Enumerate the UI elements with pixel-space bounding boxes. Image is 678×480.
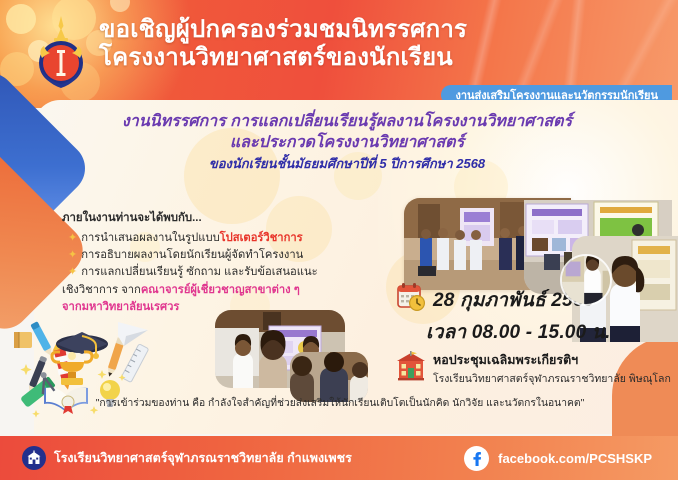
venue-line-1: หอประชุมเฉลิมพระเกียรติฯ xyxy=(433,350,671,370)
details-lead: ภายในงานท่านจะได้พบกับ... xyxy=(62,210,380,228)
continuation-prefix: เชิงวิชาการ จาก xyxy=(62,284,141,296)
list-item: ✦ การแลกเปลี่ยนเรียนรู้ ซักถาม และรับข้อ… xyxy=(62,264,380,281)
list-item: ✦ การอธิบายผลงานโดยนักเรียนผู้จัดทำโครงง… xyxy=(62,247,380,264)
venue-block: หอประชุมเฉลิมพระเกียรติฯ โรงเรียนวิทยาศา… xyxy=(433,350,671,387)
school-building-icon xyxy=(396,351,426,386)
facebook-icon[interactable] xyxy=(464,446,489,471)
date-row: 28 กุมภาพันธ์ 2569 xyxy=(396,282,678,317)
title-line-2: โครงงานวิทยาศาสตร์ของนักเรียน xyxy=(99,44,599,72)
school-name: โรงเรียนวิทยาศาสตร์จุฬาภรณราชวิทยาลัย กำ… xyxy=(54,448,352,468)
calendar-clock-icon xyxy=(396,282,426,317)
venue-line-2: โรงเรียนวิทยาศาสตร์จุฬาภรณราชวิทยาลัย พิ… xyxy=(433,370,671,387)
venue-row: หอประชุมเฉลิมพระเกียรติฯ โรงเรียนวิทยาศา… xyxy=(396,350,678,387)
closing-quote: "การเข้าร่วมของท่าน คือ กำลังใจสำคัญที่ช… xyxy=(40,394,640,411)
sparkle-icon: ✦ xyxy=(68,230,77,247)
event-headline: งานนิทรรศการ การแลกเปลี่ยนเรียนรู้ผลงานโ… xyxy=(34,112,660,172)
headline-line-2: และประกวดโครงงานวิทยาศาสตร์ xyxy=(34,133,660,154)
event-details: ภายในงานท่านจะได้พบกับ... ✦ การนำเสนอผลง… xyxy=(62,210,380,316)
continuation-line-2: จากมหาวิทยาลัยนเรศวร xyxy=(62,299,380,316)
headline-line-1: งานนิทรรศการ การแลกเปลี่ยนเรียนรู้ผลงานโ… xyxy=(34,112,660,133)
poster-root: ขอเชิญผู้ปกครองร่วมชมนิทรรศการ โครงงานวิ… xyxy=(0,0,678,480)
student-presenter-round-photo xyxy=(560,254,612,306)
event-time: เวลา 08.00 - 15.00 น. xyxy=(426,317,678,347)
footer-facebook[interactable]: facebook.com/PCSHSKP xyxy=(464,446,652,471)
list-item-label: การนำเสนอผลงานในรูปแบบโปสเตอร์วิชาการ xyxy=(81,230,302,247)
continuation-highlight: คณาจารย์ผู้เชี่ยวชาญสาขาต่าง ๆ xyxy=(141,284,300,296)
event-schedule: 28 กุมภาพันธ์ 2569 เวลา 08.00 - 15.00 น. xyxy=(396,282,678,387)
sparkle-icon: ✦ xyxy=(68,264,77,281)
footer-school: โรงเรียนวิทยาศาสตร์จุฬาภรณราชวิทยาลัย กำ… xyxy=(22,446,352,470)
facebook-url[interactable]: facebook.com/PCSHSKP xyxy=(498,451,652,466)
list-item: ✦ การนำเสนอผลงานในรูปแบบโปสเตอร์วิชาการ xyxy=(62,230,380,247)
list-item-label: การแลกเปลี่ยนเรียนรู้ ซักถาม และรับข้อเส… xyxy=(81,264,317,281)
royal-emblem-icon xyxy=(30,14,92,94)
page-title: ขอเชิญผู้ปกครองร่วมชมนิทรรศการ โครงงานวิ… xyxy=(99,16,599,72)
list-item-label: การอธิบายผลงานโดยนักเรียนผู้จัดทำโครงงาน xyxy=(81,247,303,264)
list-item-highlight: โปสเตอร์วิชาการ xyxy=(220,232,303,244)
headline-line-3: ของนักเรียนชั้นมัธยมศึกษาปีที่ 5 ปีการศึ… xyxy=(34,156,660,173)
details-list: ✦ การนำเสนอผลงานในรูปแบบโปสเตอร์วิชาการ … xyxy=(62,230,380,282)
bokeh-circle xyxy=(110,0,130,12)
footer-bar: โรงเรียนวิทยาศาสตร์จุฬาภรณราชวิทยาลัย กำ… xyxy=(0,436,678,480)
title-line-1: ขอเชิญผู้ปกครองร่วมชมนิทรรศการ xyxy=(99,16,599,44)
sparkle-icon: ✦ xyxy=(68,247,77,264)
details-continuation: เชิงวิชาการ จากคณาจารย์ผู้เชี่ยวชาญสาขาต… xyxy=(62,282,380,299)
school-crest-icon xyxy=(22,446,46,470)
